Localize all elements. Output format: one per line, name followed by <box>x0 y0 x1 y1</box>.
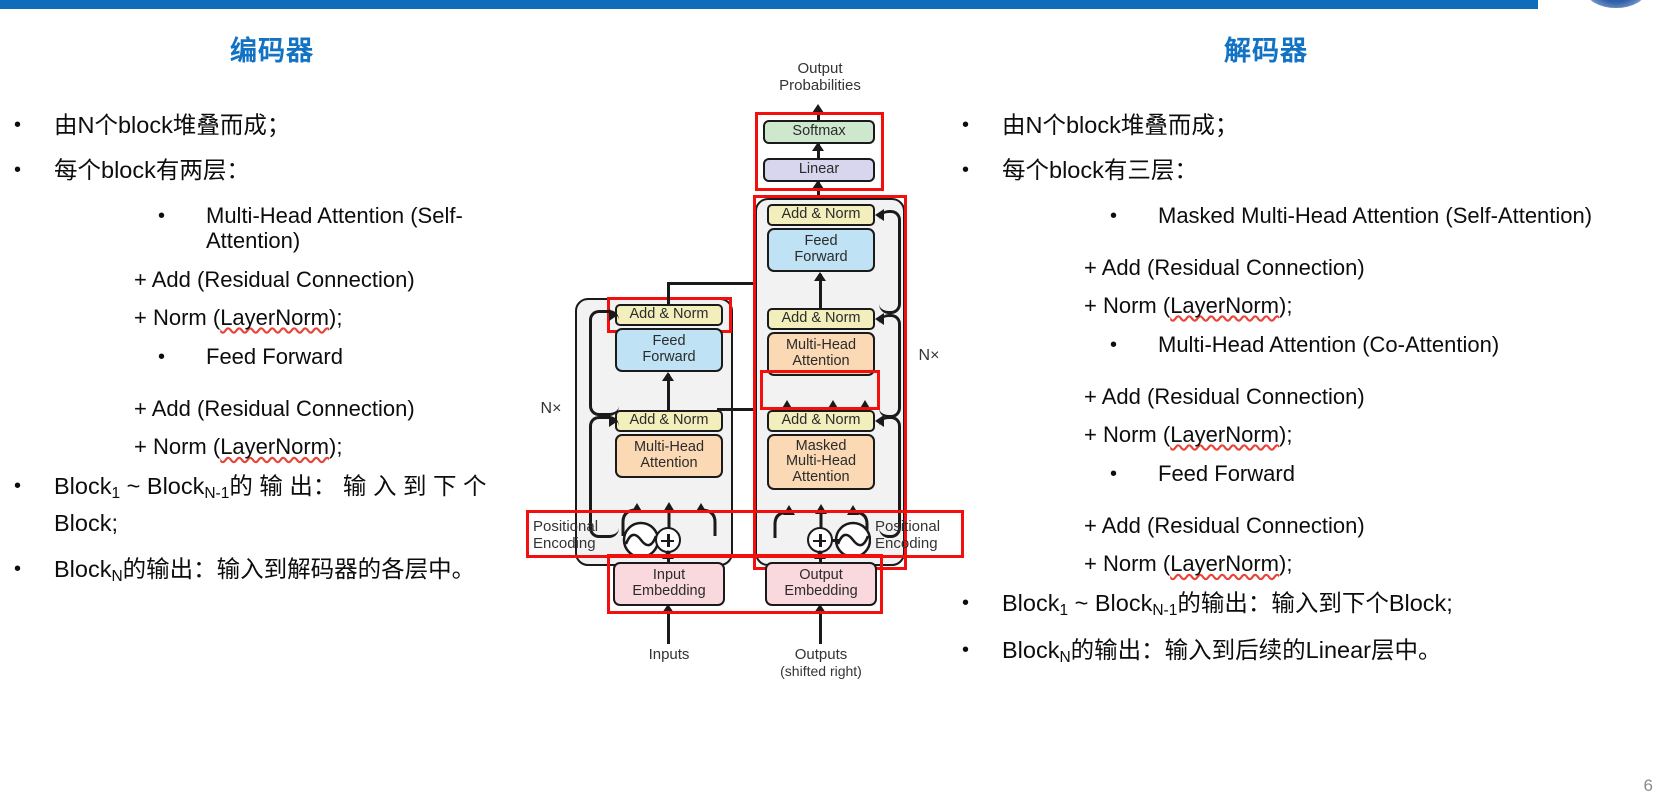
encoder-nx-label: N× <box>531 400 571 418</box>
page-number: 6 <box>1644 776 1653 796</box>
list-item: + Add (Residual Connection) <box>134 267 554 293</box>
spellcheck-word: LayerNorm <box>1170 551 1279 576</box>
list-item: • Feed Forward <box>1036 461 1662 500</box>
list-item-label: + Norm (LayerNorm); <box>1084 551 1662 577</box>
output-probabilities-label: Output Probabilities <box>755 60 885 95</box>
highlight-box-output-head <box>755 112 884 191</box>
list-item: • Multi-Head Attention (Self-Attention) <box>86 203 554 254</box>
add-norm-label: Add & Norm <box>630 413 709 429</box>
bullet-marker: • <box>158 203 206 229</box>
feed-forward-label-line1: Feed <box>652 334 685 350</box>
highlight-box-positional-encoding <box>526 510 964 558</box>
slide-canvas: 编码器 解码器 • 由N个block堆叠而成； • 每个block有两层： • … <box>0 0 1671 804</box>
list-item-label: 每个block有两层： <box>54 157 554 184</box>
list-item-label: + Add (Residual Connection) <box>1084 513 1662 539</box>
list-item-label: + Add (Residual Connection) <box>1084 384 1662 410</box>
encoder-residual-connection-2 <box>589 310 619 416</box>
list-item: • Feed Forward <box>86 344 554 383</box>
blockn-prefix: Block <box>1002 637 1059 663</box>
list-item-label: Block; <box>54 510 554 537</box>
list-item: + Norm (LayerNorm); <box>1084 293 1662 319</box>
encoder-output-line <box>667 282 670 304</box>
organization-logo <box>1586 0 1646 8</box>
block-last-subscript: N-1 <box>204 484 229 501</box>
residual-arrow-icon <box>609 309 618 321</box>
decoder-nx-label: N× <box>909 347 949 365</box>
bullet-marker: • <box>962 637 1002 663</box>
decoder-column-title: 解码器 <box>1224 29 1308 68</box>
bullet-marker: • <box>962 112 1002 138</box>
list-item: • BlockN的输出：输入到后续的Linear层中。 <box>962 637 1662 667</box>
blockn-prefix: Block <box>54 556 111 582</box>
bullet-marker: • <box>962 590 1002 616</box>
bullet-marker: • <box>962 157 1002 183</box>
spellcheck-word: LayerNorm <box>220 305 329 330</box>
multi-head-label-line2: Attention <box>640 456 697 472</box>
list-item: + Add (Residual Connection) <box>1084 255 1662 281</box>
list-item: + Norm (LayerNorm); <box>1084 422 1662 448</box>
list-item: • Block1 ~ BlockN-1的输出：输入到下个Block; <box>962 590 1662 620</box>
list-item-label: + Norm (LayerNorm); <box>134 305 554 331</box>
top-accent-bar <box>0 0 1538 9</box>
bullet-marker: • <box>14 157 54 183</box>
list-item: • Multi-Head Attention (Co-Attention) <box>1036 332 1662 371</box>
block-last: Block <box>147 473 204 499</box>
list-item-label: Masked Multi-Head Attention (Self-Attent… <box>1158 203 1662 229</box>
list-item-label: Feed Forward <box>1158 461 1662 487</box>
list-item: • 每个block有三层： <box>962 157 1662 184</box>
encoder-multi-head-attention-node: Multi-Head Attention <box>615 434 723 478</box>
block-flow-text: 的输出：输入到下个Block; <box>1177 590 1453 616</box>
encoder-add-norm-1-node: Add & Norm <box>615 410 723 432</box>
feed-forward-label-line2: Forward <box>642 350 695 366</box>
list-item: + Norm (LayerNorm); <box>134 305 554 331</box>
spellcheck-word: LayerNorm <box>1170 422 1279 447</box>
list-item-label: 每个block有三层： <box>1002 157 1662 184</box>
encoder-bullet-list: • 由N个block堆叠而成； • 每个block有两层： • Multi-He… <box>14 112 554 604</box>
list-item-label: + Norm (LayerNorm); <box>1084 422 1662 448</box>
list-item-label: + Norm (LayerNorm); <box>134 434 554 460</box>
blockn-subscript: N <box>1059 649 1070 666</box>
list-item-label: 由N个block堆叠而成； <box>1002 112 1662 139</box>
list-item: + Add (Residual Connection) <box>1084 513 1662 539</box>
flow-arrow-up-icon <box>662 372 674 381</box>
list-item-label: + Norm (LayerNorm); <box>1084 293 1662 319</box>
bullet-marker: • <box>14 112 54 138</box>
block-first: Block <box>54 473 111 499</box>
residual-arrow-icon <box>609 415 618 427</box>
list-item-label: 由N个block堆叠而成； <box>54 112 554 139</box>
list-item-label: + Add (Residual Connection) <box>1084 255 1662 281</box>
block-first: Block <box>1002 590 1059 616</box>
list-item: + Add (Residual Connection) <box>134 396 554 422</box>
list-item-label: Feed Forward <box>206 344 554 370</box>
list-item-label: Multi-Head Attention (Self-Attention) <box>206 203 554 254</box>
bullet-marker: • <box>14 556 54 582</box>
list-item-label: Block1 ~ BlockN-1的 输 出： 输 入 到 下 个 <box>54 473 554 503</box>
blockn-tail: 的输出：输入到后续的Linear层中。 <box>1071 637 1442 663</box>
bullet-marker: • <box>1110 203 1158 229</box>
list-item: • Masked Multi-Head Attention (Self-Atte… <box>1036 203 1662 242</box>
range-tilde: ~ Block <box>1068 590 1152 616</box>
list-item-label: Block1 ~ BlockN-1的输出：输入到下个Block; <box>1002 590 1662 620</box>
list-item-label: Multi-Head Attention (Co-Attention) <box>1158 332 1662 358</box>
block-last-subscript: N-1 <box>1152 601 1177 618</box>
inputs-label: Inputs <box>627 646 711 663</box>
block-first-subscript: 1 <box>111 484 120 501</box>
list-item-label: BlockN的输出：输入到后续的Linear层中。 <box>1002 637 1662 667</box>
encoder-feed-forward-node: Feed Forward <box>615 328 723 372</box>
bullet-marker: • <box>1110 461 1158 487</box>
block-first-subscript: 1 <box>1059 601 1068 618</box>
bullet-marker: • <box>158 344 206 370</box>
list-item-label: + Add (Residual Connection) <box>134 396 554 422</box>
bullet-marker: • <box>1110 332 1158 358</box>
list-item: + Norm (LayerNorm); <box>134 434 554 460</box>
decoder-bullet-list: • 由N个block堆叠而成； • 每个block有三层： • Masked M… <box>962 112 1662 685</box>
block-flow-text: 的 输 出： 输 入 到 下 个 <box>229 473 486 499</box>
bullet-marker: • <box>14 473 54 499</box>
list-item: + Norm (LayerNorm); <box>1084 551 1662 577</box>
list-item-continuation: Block; <box>14 510 554 537</box>
spellcheck-word: LayerNorm <box>220 434 329 459</box>
list-item: • 由N个block堆叠而成； <box>962 112 1662 139</box>
list-item: • 每个block有两层： <box>14 157 554 184</box>
multi-head-label-line1: Multi-Head <box>634 440 704 456</box>
blockn-subscript: N <box>111 568 122 585</box>
list-item: + Add (Residual Connection) <box>1084 384 1662 410</box>
highlight-box-embeddings <box>607 554 883 614</box>
encoder-column-title: 编码器 <box>230 29 314 68</box>
list-item-label: + Add (Residual Connection) <box>134 267 554 293</box>
spellcheck-word: LayerNorm <box>1170 293 1279 318</box>
range-tilde: ~ <box>120 473 147 499</box>
list-item: • 由N个block堆叠而成； <box>14 112 554 139</box>
list-item: • BlockN的输出：输入到解码器的各层中。 <box>14 556 554 586</box>
transformer-architecture-diagram: Output Probabilities Softmax Linear N× A… <box>527 52 967 692</box>
list-item-label: BlockN的输出：输入到解码器的各层中。 <box>54 556 554 586</box>
blockn-tail: 的输出：输入到解码器的各层中。 <box>123 556 476 582</box>
outputs-label: Outputs (shifted right) <box>769 646 873 679</box>
list-item: • Block1 ~ BlockN-1的 输 出： 输 入 到 下 个 <box>14 473 554 503</box>
